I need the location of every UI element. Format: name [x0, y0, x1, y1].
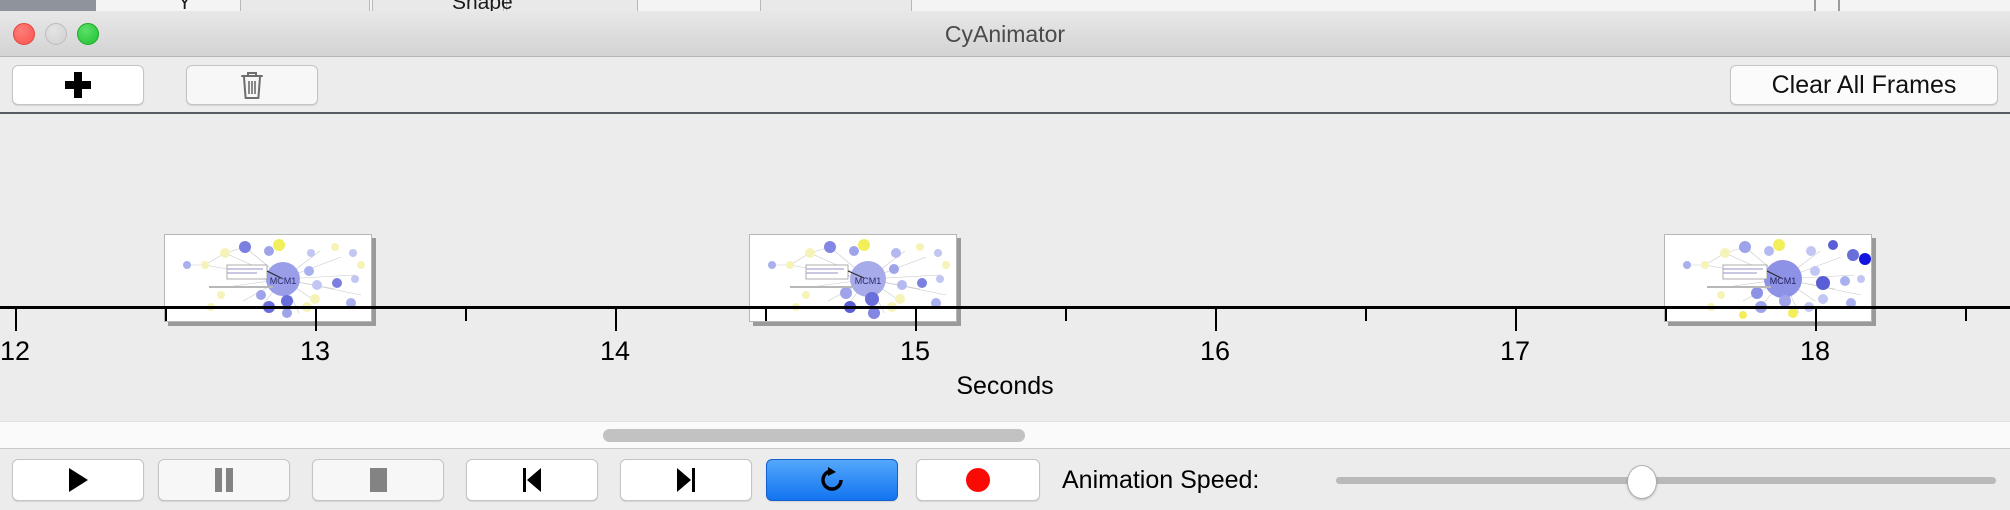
axis-tick-major — [915, 309, 917, 331]
axis-tick-minor — [1665, 309, 1667, 321]
plus-icon — [65, 72, 91, 98]
axis-tick-label: 15 — [900, 336, 930, 367]
background-text-partial: Y — [178, 0, 191, 11]
frame-thumbnail[interactable]: MCM1 — [164, 234, 376, 326]
horizontal-scrollbar[interactable] — [0, 421, 2010, 449]
background-sidebar — [0, 0, 96, 11]
axis-tick-label: 12 — [0, 336, 30, 367]
loop-icon — [818, 466, 846, 494]
window-title: CyAnimator — [0, 11, 2010, 57]
axis-tick-minor — [1065, 309, 1067, 321]
trash-icon — [239, 70, 265, 100]
svg-text:MCM1: MCM1 — [1770, 276, 1797, 286]
record-icon — [965, 467, 991, 493]
axis-tick-major — [1815, 309, 1817, 331]
frame-thumbnail[interactable]: MCM1 — [749, 234, 961, 326]
loop-button[interactable] — [766, 459, 898, 501]
skip-back-icon — [521, 467, 543, 493]
axis-tick-minor — [1965, 309, 1967, 321]
stop-button[interactable] — [312, 459, 444, 501]
delete-frame-button[interactable] — [186, 65, 318, 105]
skip-forward-icon — [675, 467, 697, 493]
axis-tick-major — [315, 309, 317, 331]
axis-tick-minor — [765, 309, 767, 321]
play-button[interactable] — [12, 459, 144, 501]
axis-tick-minor — [165, 309, 167, 321]
svg-text:MCM1: MCM1 — [270, 276, 297, 286]
axis-tick-label: 17 — [1500, 336, 1530, 367]
skip-forward-button[interactable] — [620, 459, 752, 501]
background-tab — [506, 0, 638, 11]
slider-track[interactable] — [1336, 477, 1996, 484]
traffic-lights — [13, 23, 99, 45]
titlebar: CyAnimator — [0, 11, 2010, 57]
record-button[interactable] — [916, 459, 1040, 501]
skip-back-button[interactable] — [466, 459, 598, 501]
svg-text:MCM1: MCM1 — [855, 276, 882, 286]
axis-tick-major — [15, 309, 17, 331]
axis-tick-minor — [1365, 309, 1367, 321]
axis-tick-major — [615, 309, 617, 331]
axis-tick-minor — [465, 309, 467, 321]
zoom-button[interactable] — [77, 23, 99, 45]
pause-icon — [213, 467, 235, 493]
background-tab — [240, 0, 370, 11]
frame-thumbnail[interactable]: MCM1 — [1664, 234, 1876, 326]
toolbar: Clear All Frames — [0, 57, 2010, 114]
animation-speed-slider[interactable] — [1336, 459, 1996, 501]
stop-icon — [367, 467, 389, 493]
background-tab — [760, 0, 912, 11]
playback-controls: Animation Speed: — [0, 449, 2010, 510]
cyanimator-window: Y Shape CyAnimator Clear All Frames — [0, 0, 2010, 510]
axis-tick-label: 13 — [300, 336, 330, 367]
slider-thumb[interactable] — [1627, 465, 1657, 499]
close-button[interactable] — [13, 23, 35, 45]
axis-title: Seconds — [0, 372, 2010, 401]
play-icon — [66, 467, 90, 493]
background-app-strip: Y Shape — [0, 0, 2010, 11]
add-frame-button[interactable] — [12, 65, 144, 105]
axis-tick-major — [1515, 309, 1517, 331]
background-text-shape: Shape — [452, 0, 513, 11]
timeline-panel[interactable]: MCM1 — [0, 114, 2010, 421]
axis-tick-label: 14 — [600, 336, 630, 367]
animation-speed-label: Animation Speed: — [1062, 459, 1259, 501]
pause-button[interactable] — [158, 459, 290, 501]
axis-tick-label: 18 — [1800, 336, 1830, 367]
background-chevron-icon — [1814, 0, 1840, 11]
scrollbar-thumb[interactable] — [603, 429, 1025, 442]
timeline-axis — [0, 306, 2010, 309]
minimize-button[interactable] — [45, 23, 67, 45]
clear-all-frames-button[interactable]: Clear All Frames — [1730, 65, 1998, 105]
axis-tick-label: 16 — [1200, 336, 1230, 367]
axis-tick-major — [1215, 309, 1217, 331]
